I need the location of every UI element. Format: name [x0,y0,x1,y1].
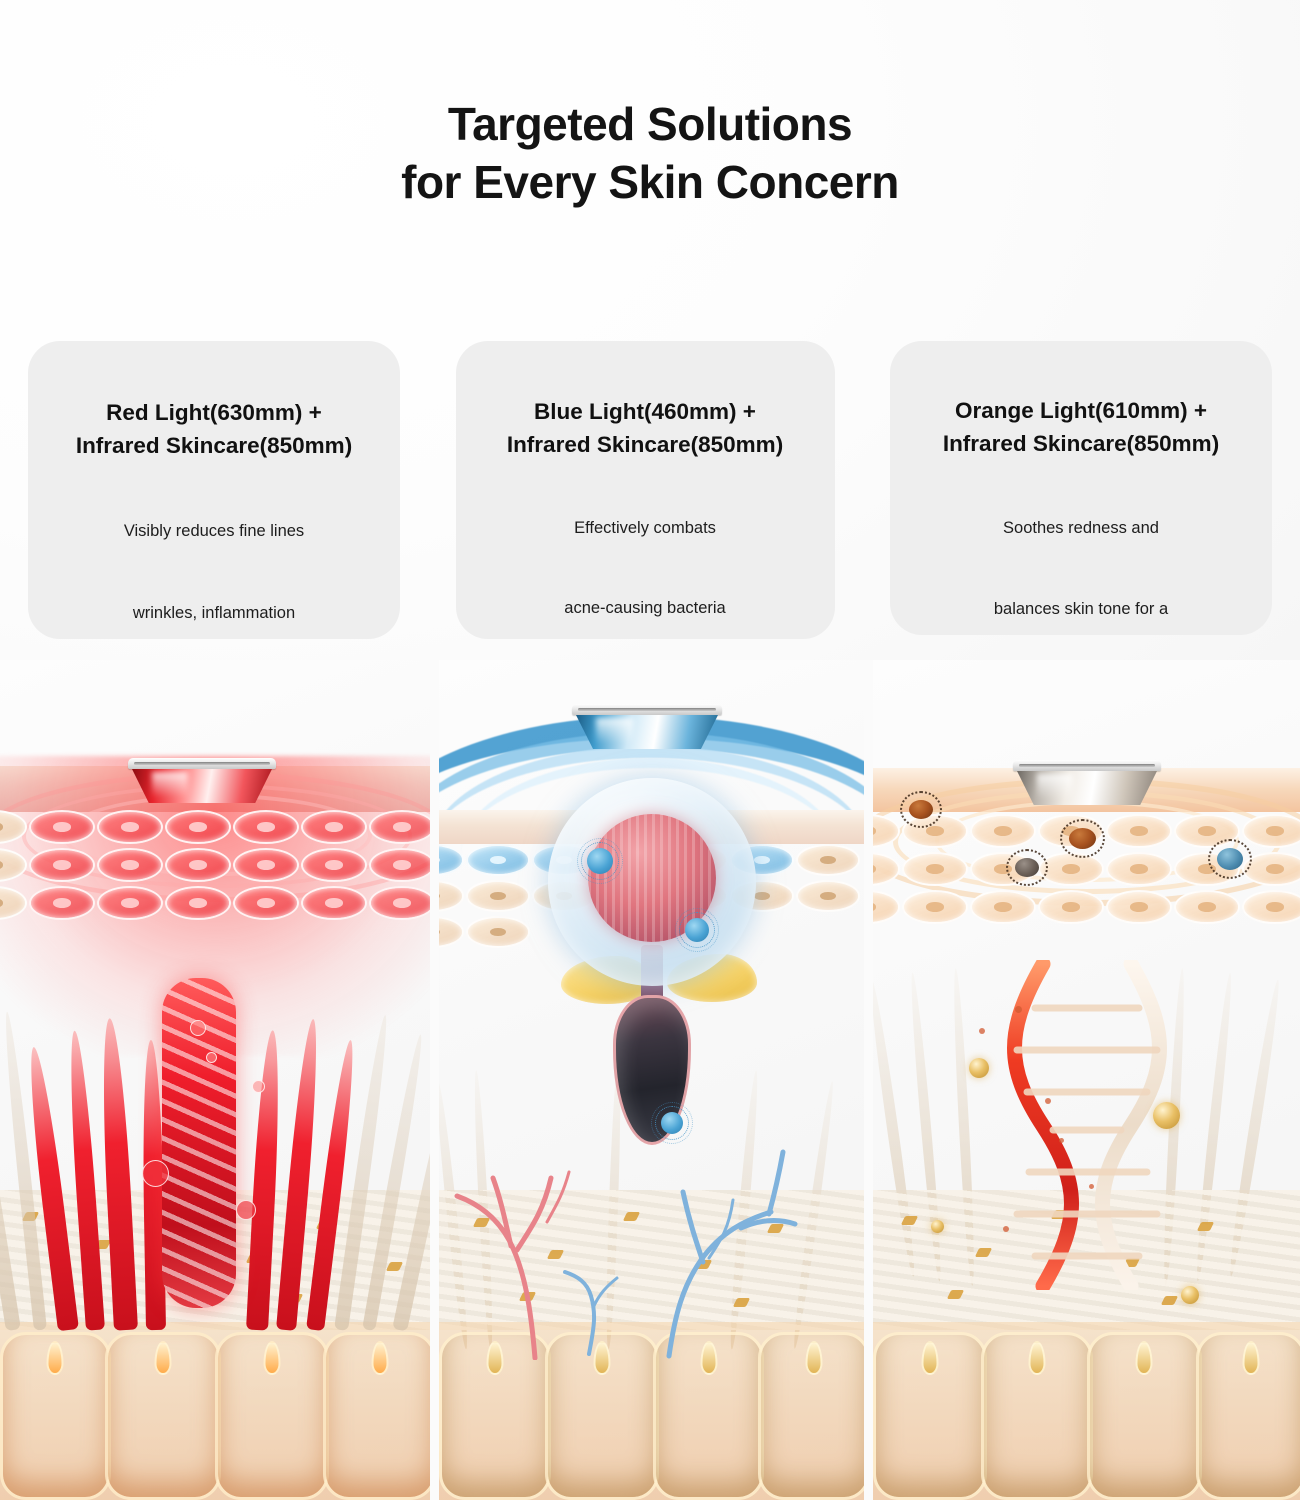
card-body-line-2: wrinkles, inflammation [133,601,295,625]
feature-card-red-light[interactable]: Red Light(630mm) + Infrared Skincare(850… [28,341,400,639]
card-body-line-2: acne-causing bacteria [564,596,725,620]
panel-divider [864,660,873,1500]
card-body-line-2: balances skin tone for a [994,597,1168,621]
light-bubble [236,1200,256,1220]
bacteria-icon [587,848,613,874]
feature-card-row: Red Light(630mm) + Infrared Skincare(850… [28,341,1272,641]
light-bubble [206,1052,217,1063]
pigment-speck [1015,1006,1022,1013]
card-heading-line-2: Infrared Skincare(850mm) [943,428,1219,461]
light-bubble [190,1020,206,1036]
pigment-speck [1003,1226,1009,1232]
pigment-speck [1045,1098,1051,1104]
card-body-line-1: Effectively combats [574,516,716,540]
gold-particle [969,1058,989,1078]
gold-particle [931,1220,944,1233]
feature-card-blue-light[interactable]: Blue Light(460mm) + Infrared Skincare(85… [456,341,835,639]
light-bubble [142,1160,169,1187]
melanin-spot-icon [1069,828,1096,849]
gold-particle [1153,1102,1180,1129]
page-header: Targeted Solutions for Every Skin Concer… [0,0,1300,300]
card-body-line-1: Soothes redness and [1003,516,1159,540]
device-head-blue-icon [572,704,722,749]
melanin-spot-icon [1217,848,1243,870]
epidermal-cell-row [0,808,430,922]
melanin-spot-icon [909,800,933,819]
subcutaneous-fat-layer [0,1322,430,1500]
illustration-red-light [0,660,430,1500]
pigment-speck [1089,1184,1094,1189]
pigment-speck [979,1028,985,1034]
gold-particle [1181,1286,1199,1304]
melanin-spot-icon [1015,858,1039,877]
dna-helix-svg [997,960,1177,1290]
card-heading-line-1: Orange Light(610mm) + [955,395,1207,428]
card-heading-line-1: Red Light(630mm) + [106,397,322,430]
illustration-blue-light [439,660,864,1500]
acne-lesion [548,778,756,986]
bacteria-icon [685,918,709,942]
dna-helix [997,960,1177,1290]
panel-divider [430,660,439,1500]
illustration-band [0,660,1300,1500]
card-body-line-1: Visibly reduces fine lines [124,519,304,543]
page-title-line-1: Targeted Solutions [448,95,852,153]
page-title-line-2: for Every Skin Concern [401,153,899,211]
bacteria-icon [661,1112,683,1134]
light-bubble [252,1080,265,1093]
card-heading-line-2: Infrared Skincare(850mm) [76,430,352,463]
feature-card-orange-light[interactable]: Orange Light(610mm) + Infrared Skincare(… [890,341,1272,635]
pigment-speck [1059,1138,1064,1143]
card-heading-line-1: Blue Light(460mm) + [534,396,756,429]
device-head-red-icon [128,758,276,803]
illustration-orange-light [873,660,1300,1500]
subcutaneous-fat-layer [873,1322,1300,1500]
device-head-gold-icon [1013,760,1161,805]
product-feature-page: Targeted Solutions for Every Skin Concer… [0,0,1300,1500]
card-heading-line-2: Infrared Skincare(850mm) [507,429,783,462]
